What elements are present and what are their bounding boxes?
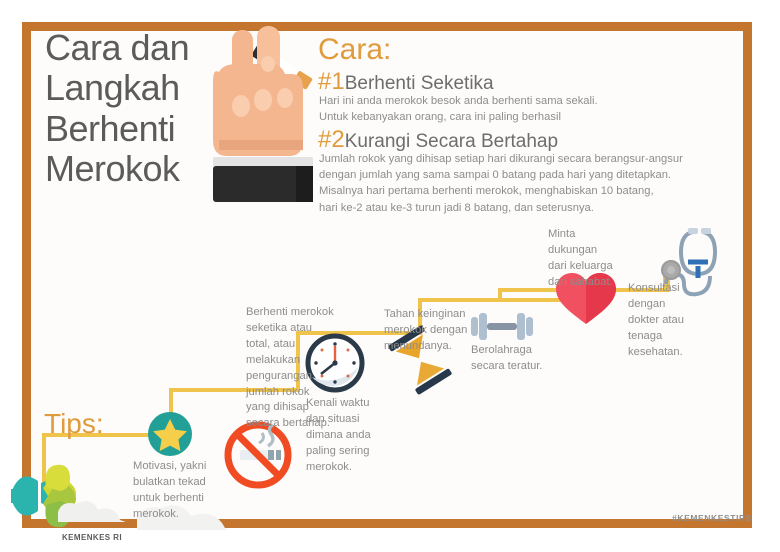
cara-step-1-number: #1 xyxy=(318,68,345,95)
tip-caption-star: Motivasi, yakni bulatkan tekad untuk ber… xyxy=(133,459,237,523)
cara-step-2-heading: #2Kurangi Secara Bertahap xyxy=(318,128,558,152)
title-line-2: Langkah xyxy=(45,68,235,108)
title-line-1: Cara dan xyxy=(45,28,235,68)
kemenkes-logo-label: KEMENKES RI xyxy=(62,533,122,542)
tip-caption-clock: Kenali waktu dan situasi dimana anda pal… xyxy=(306,396,406,476)
no-smoking-icon xyxy=(228,425,288,485)
cara-step-1-title: Berhenti Seketika xyxy=(345,73,494,94)
page-title: Cara dan Langkah Berhenti Merokok xyxy=(45,28,235,189)
tip-caption-stethoscope: Konsultasi dengan dokter atau tenaga kes… xyxy=(628,281,720,361)
cara-step-1-heading: #1Berhenti Seketika xyxy=(318,70,494,94)
title-line-3: Berhenti xyxy=(45,109,235,149)
cara-step-2-body: Jumlah rokok yang dihisap setiap hari di… xyxy=(319,151,719,216)
tip-caption-heart: Minta dukungan dari keluarga dan sahabat… xyxy=(548,227,640,291)
cara-step-1-body: Hari ini anda merokok besok anda berhent… xyxy=(319,93,699,125)
cara-heading: Cara: xyxy=(318,33,391,67)
tip-caption-dumbbell: Berolahraga secara teratur. xyxy=(471,343,571,375)
infographic-poster: Cara dan Langkah Berhenti Merokok Cara: … xyxy=(0,0,780,552)
cara-step-2-number: #2 xyxy=(318,126,345,153)
star-icon xyxy=(148,412,192,456)
tips-heading: Tips: xyxy=(44,408,104,440)
cara-step-2-title: Kurangi Secara Bertahap xyxy=(345,131,558,152)
hashtag-label: #KEMENKESTIPS xyxy=(672,513,752,523)
title-line-4: Merokok xyxy=(45,149,235,189)
